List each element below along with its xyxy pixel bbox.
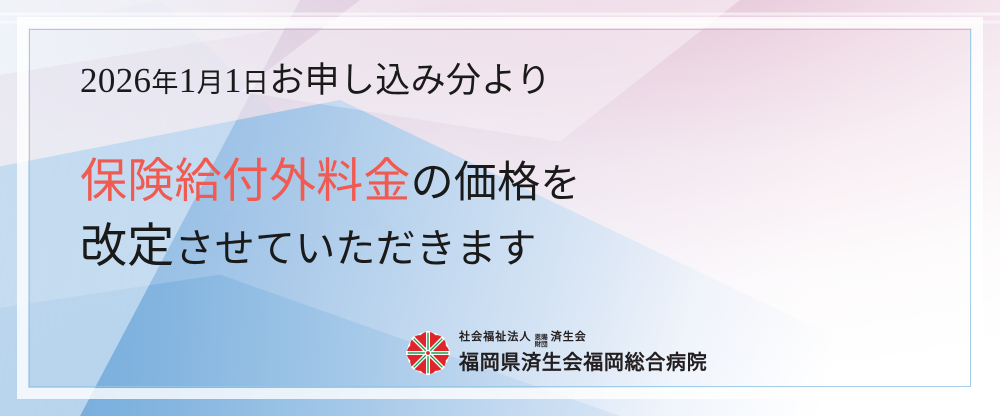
date-month: 1 (179, 61, 197, 100)
corporation-prefix: 社会福祉法人 (459, 331, 532, 344)
saiseikai-emblem-icon (406, 331, 450, 375)
date-month-unit: 月 (197, 68, 224, 98)
corporation-suffix: 済生会 (551, 331, 587, 344)
effective-date-line: 2026年1月1日お申し込み分より (80, 60, 551, 102)
headline-line-1: 保険給付外料金の価格を (80, 150, 581, 215)
headline-line2-lead: 改定 (80, 221, 174, 273)
headline-line2-tail: させていただきます (174, 226, 536, 271)
price-revision-banner: 2026年1月1日お申し込み分より 保険給付外料金の価格を 改定させていただきま… (0, 0, 1000, 416)
hospital-logo: 社会福祉法人 恩賜 財団 済生会 福岡県済生会福岡総合病院 (406, 331, 707, 375)
headline-emphasis-fee: 保険給付外料金 (80, 156, 411, 208)
date-day-unit: 日 (242, 68, 269, 98)
onshi-line-2: 財団 (535, 342, 548, 349)
headline-line1-middle: の価格 (411, 160, 541, 207)
corporation-line: 社会福祉法人 恩賜 財団 済生会 (459, 331, 707, 349)
hospital-logo-text: 社会福祉法人 恩賜 財団 済生会 福岡県済生会福岡総合病院 (459, 331, 707, 375)
onshi-zaidan-stack: 恩賜 財団 (535, 335, 548, 348)
banner-content: 2026年1月1日お申し込み分より 保険給付外料金の価格を 改定させていただきま… (0, 0, 1000, 416)
date-year: 2026 (80, 61, 151, 100)
headline-line-2: 改定させていただきます (80, 215, 581, 280)
date-suffix: お申し込み分より (269, 61, 551, 100)
headline: 保険給付外料金の価格を 改定させていただきます (80, 150, 581, 280)
date-year-unit: 年 (151, 68, 178, 98)
headline-line1-tail: を (540, 161, 580, 206)
hospital-name: 福岡県済生会福岡総合病院 (459, 351, 707, 375)
date-day: 1 (224, 61, 242, 100)
